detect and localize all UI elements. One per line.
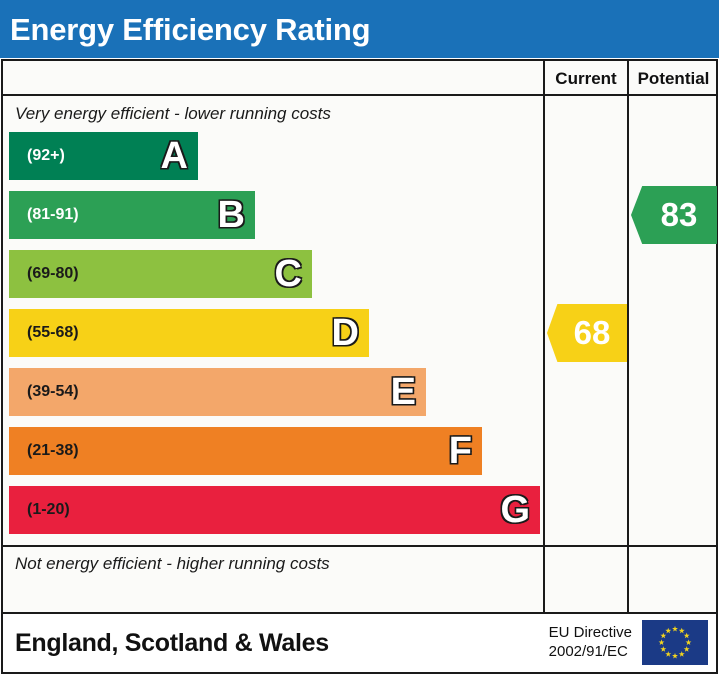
band-letter-b: B xyxy=(218,196,245,234)
band-range-c: (69-80) xyxy=(9,265,79,283)
eu-flag-icon xyxy=(642,620,708,665)
band-letter-f: F xyxy=(449,432,472,470)
page-title: Energy Efficiency Rating xyxy=(0,14,370,45)
caption-not-efficient: Not energy efficient - higher running co… xyxy=(3,545,543,580)
eu-directive-line2: 2002/91/EC xyxy=(549,643,632,662)
band-range-g: (1-20) xyxy=(9,501,70,519)
current-column-divider xyxy=(543,61,545,612)
band-d: (55-68)D xyxy=(9,309,369,357)
band-letter-g: G xyxy=(500,491,530,529)
rating-table: Current Potential Very energy efficient … xyxy=(1,59,718,614)
band-range-b: (81-91) xyxy=(9,206,79,224)
band-letter-a: A xyxy=(161,137,188,175)
eu-directive-block: EU Directive 2002/91/EC xyxy=(549,620,708,665)
band-range-d: (55-68) xyxy=(9,324,79,342)
column-header-potential: Potential xyxy=(629,61,718,96)
band-g: (1-20)G xyxy=(9,486,540,534)
band-letter-d: D xyxy=(332,314,359,352)
caption-very-efficient: Very energy efficient - lower running co… xyxy=(3,96,543,132)
band-letter-c: C xyxy=(275,255,302,293)
current-rating-marker: 68 xyxy=(547,304,627,362)
footer-region-label: England, Scotland & Wales xyxy=(3,629,329,658)
band-a: (92+)A xyxy=(9,132,198,180)
column-header-current: Current xyxy=(545,61,627,96)
potential-rating-marker: 83 xyxy=(631,186,717,244)
band-list: (92+)A(81-91)B(69-80)C(55-68)D(39-54)E(2… xyxy=(3,132,543,545)
band-c: (69-80)C xyxy=(9,250,312,298)
eu-directive-line1: EU Directive xyxy=(549,624,632,643)
energy-efficiency-rating-chart: Energy Efficiency Rating Current Potenti… xyxy=(0,0,719,675)
chart-footer: England, Scotland & Wales EU Directive 2… xyxy=(1,614,718,674)
potential-column-divider xyxy=(627,61,629,612)
band-range-e: (39-54) xyxy=(9,383,79,401)
band-e: (39-54)E xyxy=(9,368,426,416)
chart-title-bar: Energy Efficiency Rating xyxy=(0,0,719,58)
band-b: (81-91)B xyxy=(9,191,255,239)
band-range-a: (92+) xyxy=(9,147,65,165)
band-range-f: (21-38) xyxy=(9,442,79,460)
band-f: (21-38)F xyxy=(9,427,482,475)
band-letter-e: E xyxy=(391,373,416,411)
eu-directive-text: EU Directive 2002/91/EC xyxy=(549,624,632,662)
